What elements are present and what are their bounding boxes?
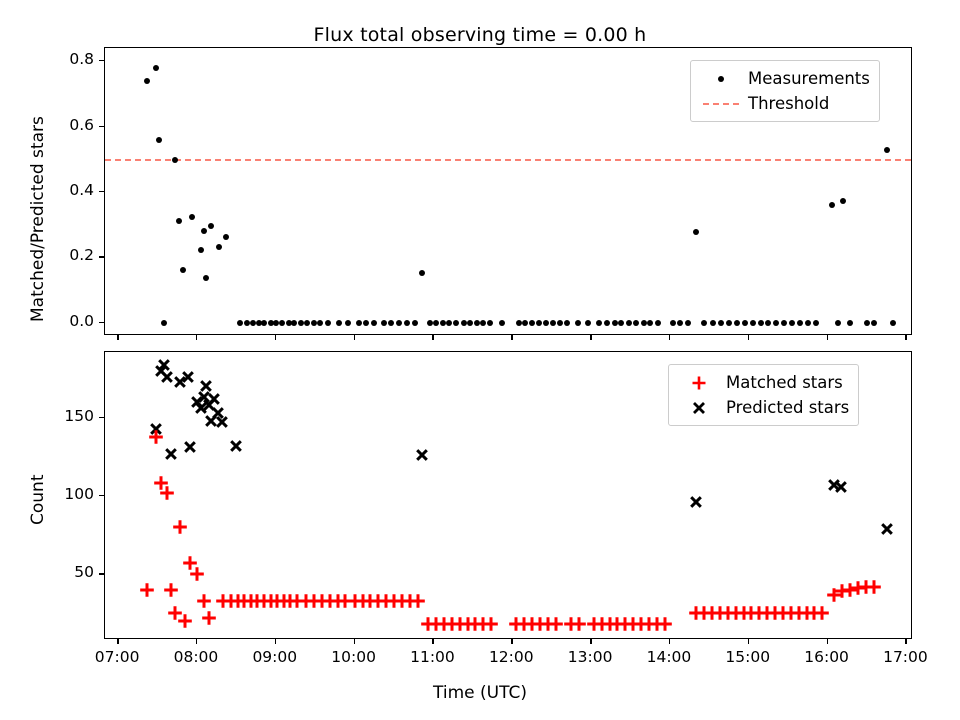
data-point-measurement <box>765 320 771 326</box>
data-point-measurement <box>203 275 209 281</box>
threshold-line-icon <box>698 103 744 105</box>
data-point-measurement <box>647 320 653 326</box>
data-point-measurement <box>871 320 877 326</box>
x-axis-tick-mark <box>905 335 906 340</box>
x-axis-tick-mark <box>905 639 906 644</box>
bottom-panel-y-tick-mark <box>99 573 104 574</box>
x-axis-tick-label: 16:00 <box>787 648 867 666</box>
data-point-measurement <box>480 320 486 326</box>
data-point-measurement <box>718 320 724 326</box>
data-point-measurement <box>453 320 459 326</box>
top-panel-y-tick-label: 0.0 <box>40 312 94 330</box>
x-axis-tick-mark <box>275 639 276 644</box>
x-axis-tick-mark <box>590 639 591 644</box>
data-point-measurement <box>153 65 159 71</box>
data-point-measurement <box>758 320 764 326</box>
data-point-measurement <box>156 137 162 143</box>
x-axis-tick-label: 09:00 <box>235 648 315 666</box>
data-point-measurement <box>781 320 787 326</box>
data-point-measurement <box>467 320 473 326</box>
plus-marker-icon <box>676 374 722 392</box>
data-point-measurement <box>884 147 890 153</box>
data-point-measurement <box>279 320 285 326</box>
x-axis-tick-mark <box>196 639 197 644</box>
data-point-measurement <box>461 320 467 326</box>
data-point-measurement <box>474 320 480 326</box>
x-axis-tick-label: 10:00 <box>314 648 394 666</box>
x-axis-tick-mark <box>432 639 433 644</box>
data-point-measurement <box>412 320 418 326</box>
top-panel-y-tick-label: 0.6 <box>40 116 94 134</box>
data-point-measurement <box>805 320 811 326</box>
top-panel-y-tick-mark <box>99 60 104 61</box>
data-point-measurement <box>693 229 699 235</box>
top-panel-y-tick-mark <box>99 322 104 323</box>
data-point-measurement <box>144 78 150 84</box>
x-axis-tick-label: 17:00 <box>865 648 945 666</box>
data-point-measurement <box>356 320 362 326</box>
data-point-measurement <box>847 320 853 326</box>
data-point-measurement <box>446 320 452 326</box>
x-axis-tick-mark <box>590 335 591 340</box>
x-axis-tick-mark <box>117 639 118 644</box>
x-axis-tick-mark <box>827 335 828 340</box>
data-point-measurement <box>311 320 317 326</box>
legend-row-measurements: Measurements <box>698 66 870 91</box>
data-point-measurement <box>223 234 229 240</box>
x-axis-tick-mark <box>354 639 355 644</box>
data-point-measurement <box>404 320 410 326</box>
data-point-measurement <box>433 320 439 326</box>
data-point-measurement <box>304 320 310 326</box>
data-point-measurement <box>440 320 446 326</box>
data-point-measurement <box>325 320 331 326</box>
x-axis-tick-mark <box>748 335 749 340</box>
data-point-measurement <box>564 320 570 326</box>
data-point-measurement <box>381 320 387 326</box>
bottom-panel-y-tick-mark <box>99 417 104 418</box>
data-point-measurement <box>641 320 647 326</box>
data-point-measurement <box>789 320 795 326</box>
data-point-measurement <box>189 214 195 220</box>
data-point-measurement <box>487 320 493 326</box>
data-point-measurement <box>890 320 896 326</box>
data-point-measurement <box>585 320 591 326</box>
data-point-measurement <box>208 223 214 229</box>
data-point-measurement <box>180 267 186 273</box>
bottom-panel-y-tick-mark <box>99 495 104 496</box>
data-point-measurement <box>596 320 602 326</box>
x-axis-tick-mark <box>432 335 433 340</box>
data-point-measurement <box>291 320 297 326</box>
legend-label-measurements: Measurements <box>744 69 870 88</box>
data-point-measurement <box>604 320 610 326</box>
x-axis-tick-mark <box>748 639 749 644</box>
top-panel-y-tick-mark <box>99 191 104 192</box>
data-point-measurement <box>612 320 618 326</box>
data-point-measurement <box>317 320 323 326</box>
data-point-measurement <box>557 320 563 326</box>
data-point-measurement <box>216 244 222 250</box>
data-point-measurement <box>244 320 250 326</box>
bottom-panel-y-tick-label: 150 <box>40 407 94 425</box>
data-point-measurement <box>829 202 835 208</box>
data-point-measurement <box>198 247 204 253</box>
data-point-measurement <box>161 320 167 326</box>
data-point-measurement <box>388 320 394 326</box>
bottom-panel-y-tick-label: 50 <box>40 563 94 581</box>
data-point-measurement <box>536 320 542 326</box>
x-axis-tick-mark <box>275 335 276 340</box>
x-axis-tick-mark <box>669 335 670 340</box>
x-axis-tick-label: 13:00 <box>550 648 630 666</box>
legend-label-predicted-stars: Predicted stars <box>722 398 849 417</box>
x-axis-tick-mark <box>354 335 355 340</box>
data-point-measurement <box>396 320 402 326</box>
data-point-measurement <box>575 320 581 326</box>
data-point-measurement <box>797 320 803 326</box>
data-point-measurement <box>618 320 624 326</box>
x-axis-tick-mark <box>511 335 512 340</box>
top-panel-y-tick-mark <box>99 256 104 257</box>
data-point-measurement <box>516 320 522 326</box>
data-point-measurement <box>176 218 182 224</box>
legend-row-threshold: Threshold <box>698 91 870 116</box>
data-point-measurement <box>298 320 304 326</box>
data-point-measurement <box>529 320 535 326</box>
figure-canvas: Flux total observing time = 0.00 h Match… <box>0 0 960 720</box>
data-point-measurement <box>499 320 505 326</box>
data-point-measurement <box>670 320 676 326</box>
data-point-measurement <box>273 320 279 326</box>
top-panel-legend: Measurements Threshold <box>690 60 880 122</box>
figure-title: Flux total observing time = 0.00 h <box>0 24 960 46</box>
legend-row-matched-stars: Matched stars <box>676 370 849 395</box>
x-axis-tick-label: 15:00 <box>708 648 788 666</box>
x-axis-tick-mark <box>196 335 197 340</box>
data-point-measurement <box>543 320 549 326</box>
data-point-measurement <box>633 320 639 326</box>
data-point-measurement <box>726 320 732 326</box>
x-axis-tick-mark <box>827 639 828 644</box>
data-point-measurement <box>813 320 819 326</box>
data-point-measurement <box>835 320 841 326</box>
data-point-measurement <box>363 320 369 326</box>
top-panel-y-axis-label: Matched/Predicted stars <box>28 116 48 322</box>
data-point-measurement <box>201 228 207 234</box>
threshold-line <box>105 159 911 161</box>
data-point-measurement <box>701 320 707 326</box>
data-point-measurement <box>864 320 870 326</box>
x-axis-tick-mark <box>669 639 670 644</box>
legend-label-matched-stars: Matched stars <box>722 373 843 392</box>
top-panel-y-tick-label: 0.4 <box>40 181 94 199</box>
bottom-panel-y-tick-label: 100 <box>40 485 94 503</box>
x-axis-tick-label: 07:00 <box>77 648 157 666</box>
x-axis-tick-label: 11:00 <box>392 648 472 666</box>
data-point-measurement <box>172 157 178 163</box>
data-point-measurement <box>419 270 425 276</box>
data-point-measurement <box>626 320 632 326</box>
data-point-measurement <box>677 320 683 326</box>
data-point-measurement <box>550 320 556 326</box>
data-point-measurement <box>710 320 716 326</box>
data-point-measurement <box>655 320 661 326</box>
top-panel-y-tick-mark <box>99 126 104 127</box>
data-point-measurement <box>840 198 846 204</box>
data-point-measurement <box>750 320 756 326</box>
bottom-panel-legend: Matched stars Predicted stars <box>668 364 859 426</box>
data-point-measurement <box>336 320 342 326</box>
legend-row-predicted-stars: Predicted stars <box>676 395 849 420</box>
measurement-dot-icon <box>698 76 744 82</box>
data-point-measurement <box>345 320 351 326</box>
data-point-measurement <box>371 320 377 326</box>
x-axis-tick-label: 12:00 <box>471 648 551 666</box>
data-point-measurement <box>522 320 528 326</box>
x-axis-tick-mark <box>117 335 118 340</box>
x-axis-label: Time (UTC) <box>0 683 960 703</box>
data-point-measurement <box>685 320 691 326</box>
cross-marker-icon <box>676 399 722 417</box>
x-axis-tick-label: 08:00 <box>156 648 236 666</box>
data-point-measurement <box>773 320 779 326</box>
data-point-measurement <box>427 320 433 326</box>
x-axis-tick-label: 14:00 <box>629 648 709 666</box>
top-panel-y-tick-label: 0.8 <box>40 50 94 68</box>
data-point-measurement <box>261 320 267 326</box>
data-point-measurement <box>734 320 740 326</box>
data-point-measurement <box>237 320 243 326</box>
data-point-measurement <box>742 320 748 326</box>
x-axis-tick-mark <box>511 639 512 644</box>
legend-label-threshold: Threshold <box>744 94 829 113</box>
top-panel-y-tick-label: 0.2 <box>40 246 94 264</box>
